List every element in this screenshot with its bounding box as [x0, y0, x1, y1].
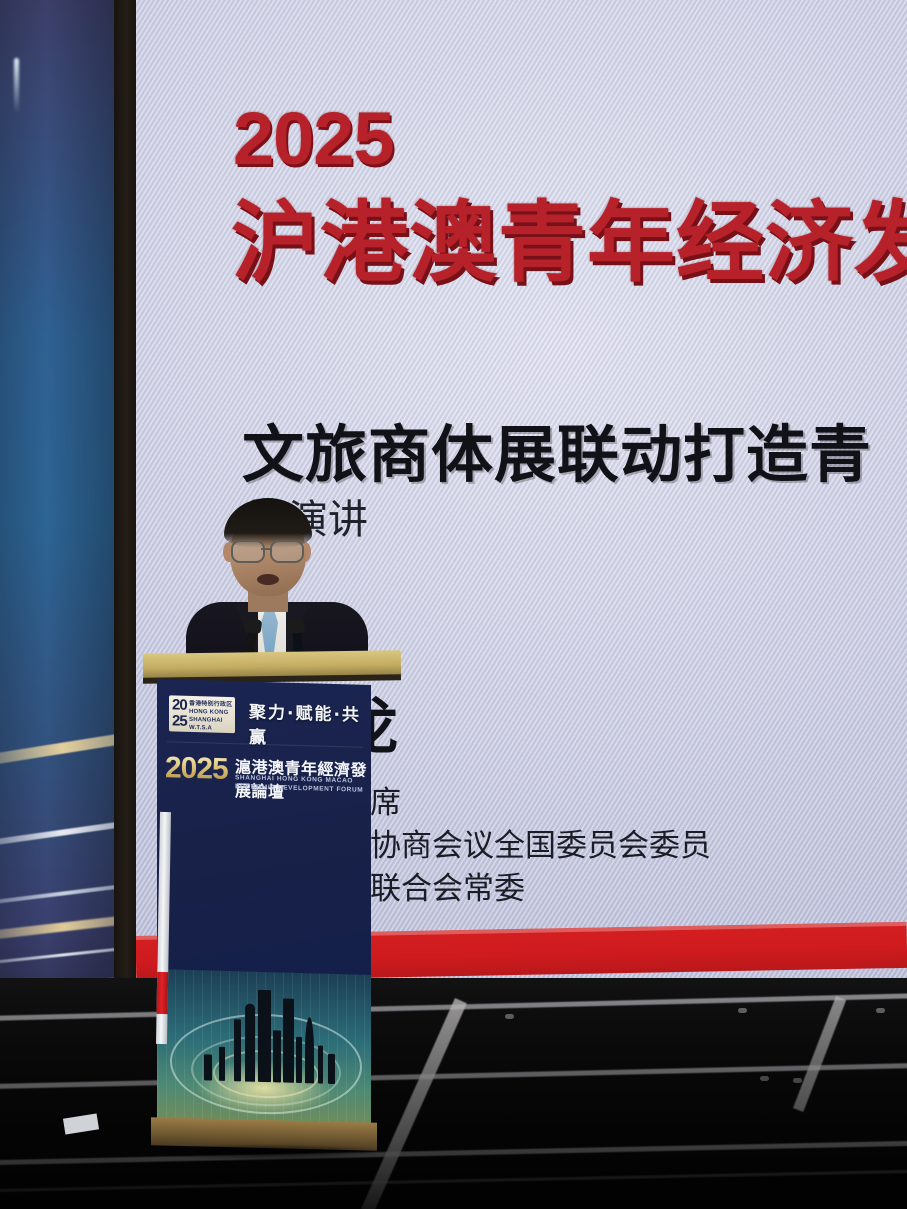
- skyline-building: [283, 999, 294, 1083]
- eyeglasses-icon: [231, 540, 265, 563]
- podium-skyline-graphic: [157, 969, 371, 1125]
- slide-year: 2025: [233, 96, 394, 181]
- skyline-building: [273, 1030, 281, 1082]
- podium-front-panel: 20 25 香港特别行政区 HONG KONG SHANGHAI W.T.S.A…: [157, 679, 371, 1125]
- slide-headline: 沪港澳青年经济发展: [231, 172, 907, 299]
- skyline-building: [296, 1037, 302, 1083]
- stage-left-blue-wall: [0, 0, 117, 1050]
- podium-logo-year: 2025: [165, 751, 228, 787]
- wall-light-glow: [14, 58, 19, 113]
- skyline-building: [219, 1047, 225, 1081]
- skyline-building: [204, 1054, 212, 1080]
- eyeglasses-bridge: [261, 548, 270, 550]
- skyline-building: [318, 1045, 323, 1083]
- screenshot-root: 2025 沪港澳青年经济发展 文旅商体展联动打造青 旨演讲 龙 副主席 政治协商…: [0, 0, 907, 1209]
- pole-red-section: [156, 972, 168, 1014]
- skyline-building: [258, 990, 271, 1082]
- podium-event-badge: 20 25 香港特别行政区 HONG KONG SHANGHAI W.T.S.A: [169, 695, 235, 733]
- speaker-mouth: [257, 574, 279, 585]
- speaker-figure: [178, 498, 374, 670]
- badge-text-lines: 香港特别行政区 HONG KONG SHANGHAI W.T.S.A: [189, 700, 235, 733]
- skyline-building: [234, 1019, 241, 1081]
- podium-slogan: 聚力·赋能·共赢: [249, 698, 371, 751]
- badge-year-bottom: 25: [172, 713, 187, 729]
- stage-floor: [0, 978, 907, 1209]
- podium-floor-shadow: [137, 1144, 387, 1160]
- badge-year-top: 20: [172, 697, 187, 713]
- skyline-building: [328, 1054, 335, 1084]
- podium-lectern: 20 25 香港特别行政区 HONG KONG SHANGHAI W.T.S.A…: [143, 652, 401, 1152]
- eyeglasses-icon: [270, 540, 304, 563]
- floor-shadow-gradient: [0, 978, 907, 1209]
- skyline-building: [305, 1017, 314, 1083]
- skyline-building: [245, 1003, 255, 1081]
- slide-theme-title: 文旅商体展联动打造青: [242, 404, 872, 494]
